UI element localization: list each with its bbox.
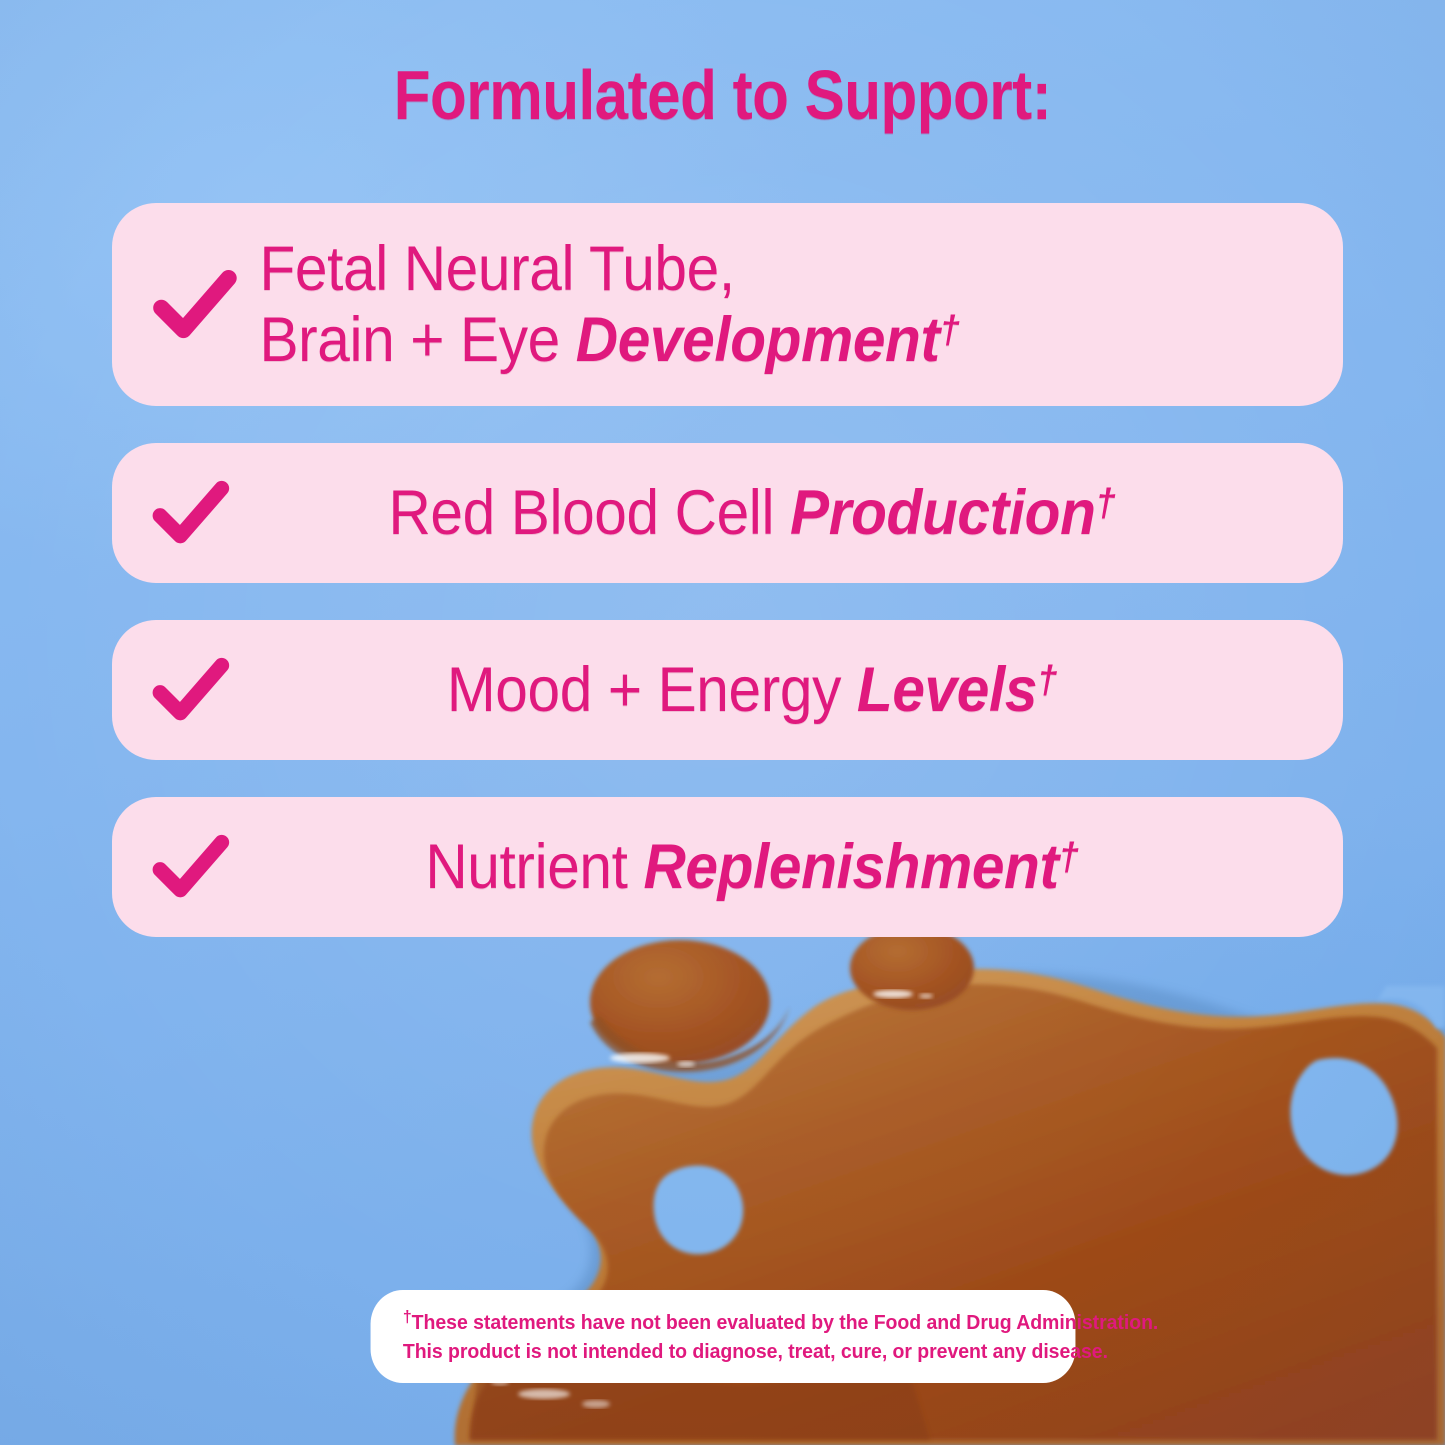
benefit-card-nutrient-replenishment[interactable]: Nutrient Replenishment†: [112, 797, 1343, 937]
benefit-card-red-blood-cell[interactable]: Red Blood Cell Production†: [112, 443, 1343, 583]
benefit-text-plain: Brain + Eye: [259, 305, 575, 375]
benefit-line-1: Nutrient Replenishment†: [281, 832, 1223, 903]
benefit-line-1: Fetal Neural Tube,: [259, 234, 1223, 305]
benefit-label-fetal-neural-tube: Fetal Neural Tube, Brain + Eye Developme…: [252, 234, 1224, 375]
dagger-symbol: †: [1037, 659, 1057, 702]
benefit-label-red-blood-cell: Red Blood Cell Production†: [281, 478, 1260, 549]
benefit-card-list: Fetal Neural Tube, Brain + Eye Developme…: [112, 203, 1343, 974]
benefit-text-emphasis: Replenishment: [643, 832, 1058, 902]
disclaimer-text-1: These statements have not been evaluated…: [412, 1311, 1159, 1334]
benefit-label-nutrient-replenishment: Nutrient Replenishment†: [281, 832, 1260, 903]
dagger-symbol: †: [1095, 482, 1115, 525]
checkmark-icon: [146, 646, 234, 734]
benefit-card-mood-energy[interactable]: Mood + Energy Levels†: [112, 620, 1343, 760]
checkmark-icon: [146, 469, 234, 557]
dagger-symbol: †: [403, 1307, 412, 1326]
fda-disclaimer: †These statements have not been evaluate…: [371, 1290, 1076, 1383]
benefit-line-1: Mood + Energy Levels†: [281, 655, 1223, 726]
benefit-text-plain: Nutrient: [425, 832, 643, 902]
benefit-line-1: Red Blood Cell Production†: [281, 478, 1223, 549]
checkmark-icon: [146, 257, 242, 353]
page-title: Formulated to Support:: [101, 55, 1344, 135]
benefit-text-emphasis: Production: [790, 478, 1095, 548]
disclaimer-line-2: This product is not intended to diagnose…: [403, 1337, 1043, 1366]
benefit-card-fetal-neural-tube[interactable]: Fetal Neural Tube, Brain + Eye Developme…: [112, 203, 1343, 406]
dagger-symbol: †: [1059, 836, 1079, 879]
product-benefits-poster: Formulated to Support: Fetal Neural Tube…: [0, 0, 1445, 1445]
benefit-text-plain: Red Blood Cell: [388, 478, 790, 548]
checkmark-icon: [146, 823, 234, 911]
benefit-text-plain: Mood + Energy: [447, 655, 857, 725]
benefit-label-mood-energy: Mood + Energy Levels†: [281, 655, 1260, 726]
dagger-symbol: †: [940, 309, 960, 352]
benefit-line-2: Brain + Eye Development†: [259, 305, 1223, 376]
benefit-text-emphasis: Development: [576, 305, 940, 375]
benefit-text-emphasis: Levels: [857, 655, 1037, 725]
disclaimer-line-1: †These statements have not been evaluate…: [403, 1305, 1043, 1337]
